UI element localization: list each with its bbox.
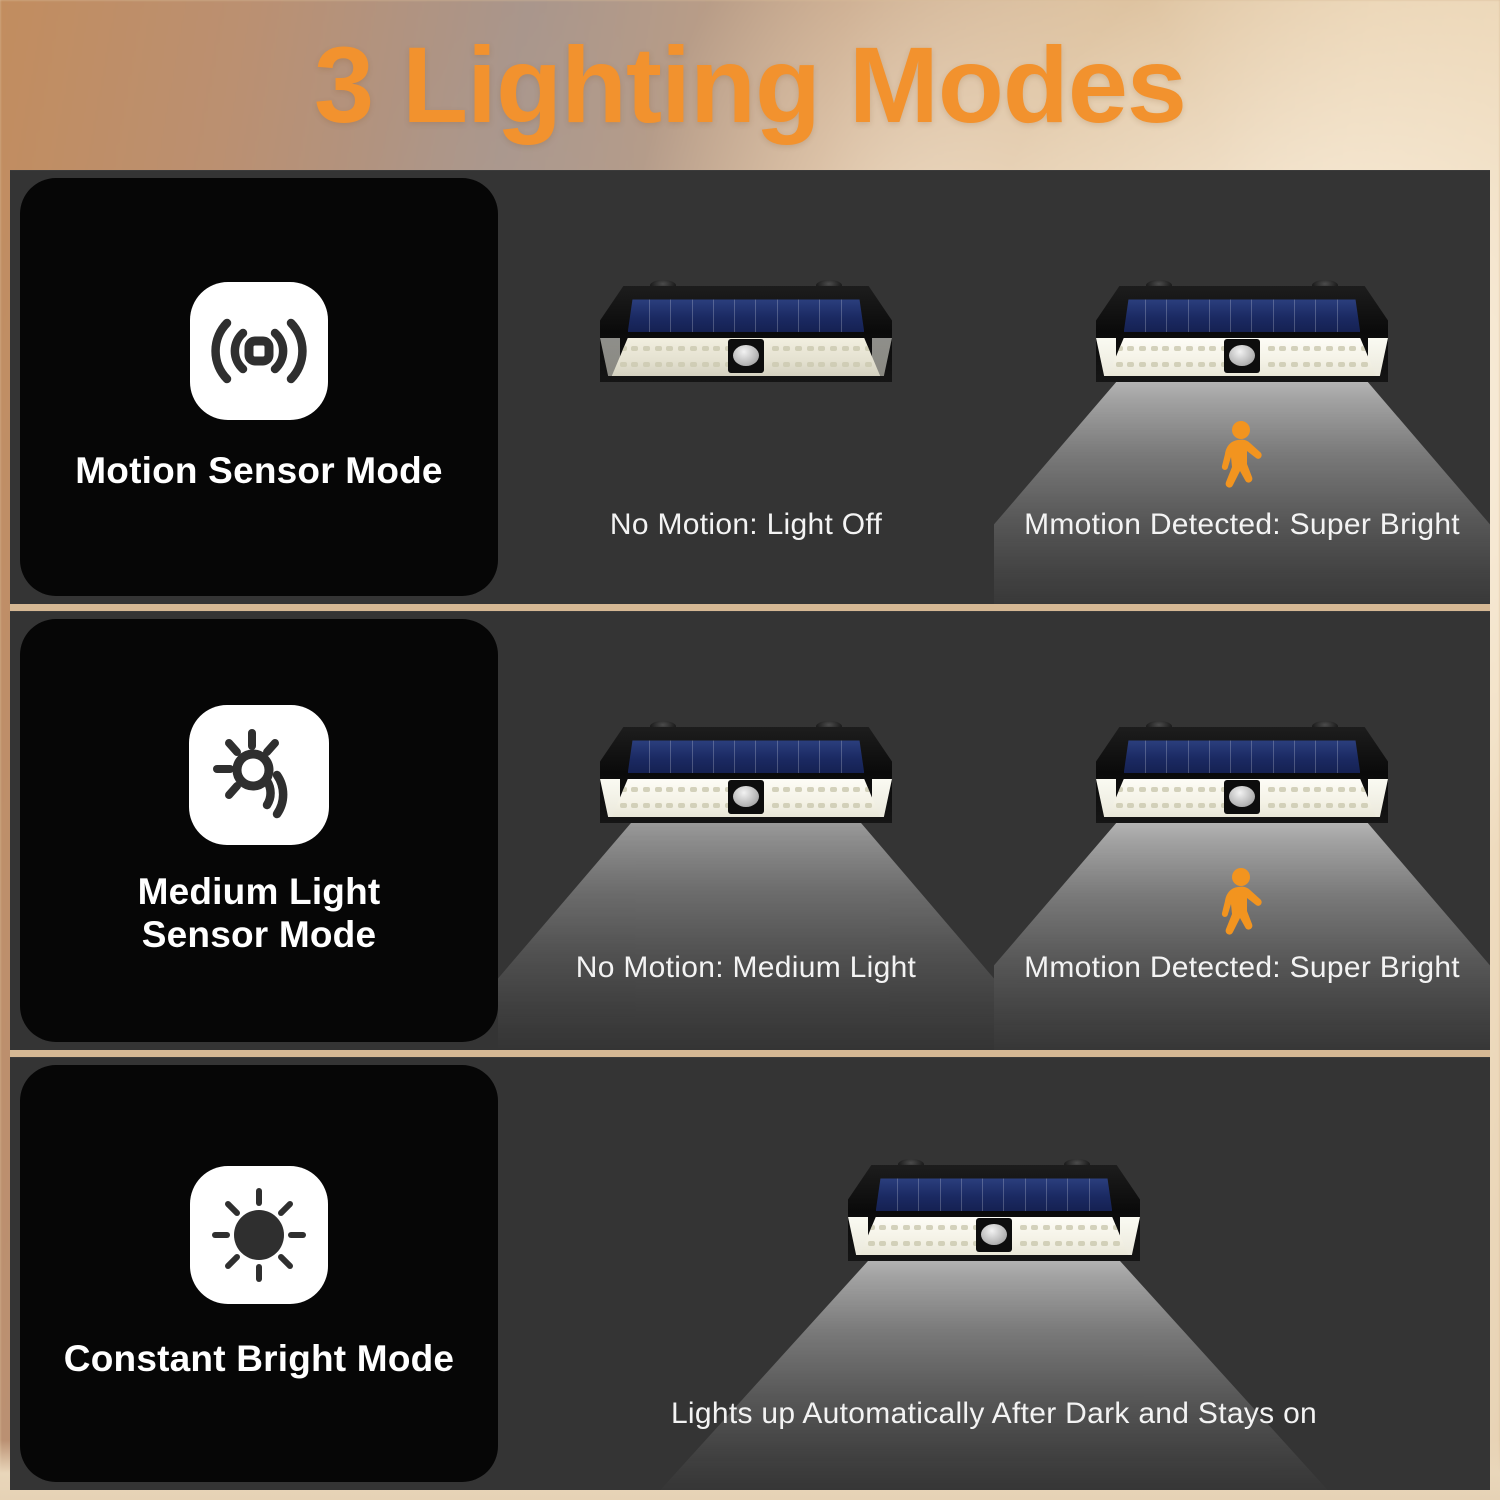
panel-medium-light-sensor-mode: Medium Light Sensor Mode <box>10 611 1490 1050</box>
scene-caption: No Motion: Light Off <box>498 508 994 542</box>
mode-panels: Motion Sensor Mode <box>10 170 1490 1490</box>
solar-light-fixture-medium <box>600 719 892 823</box>
solar-panel <box>1124 299 1361 332</box>
mode-card-motion-sensor[interactable]: Motion Sensor Mode <box>20 178 498 596</box>
solar-light-fixture-on <box>1096 278 1388 382</box>
header: 3 Lighting Modes <box>0 0 1500 170</box>
solar-panel <box>628 740 865 773</box>
mode-label-motion-sensor: Motion Sensor Mode <box>75 450 442 493</box>
panel-divider-2 <box>10 1050 1490 1057</box>
scene-caption: Lights up Automatically After Dark and S… <box>498 1397 1490 1431</box>
sun-icon <box>190 1166 328 1304</box>
panel-motion-sensor-mode: Motion Sensor Mode <box>10 170 1490 604</box>
pir-sensor <box>728 780 764 814</box>
scenes-constant-bright: Lights up Automatically After Dark and S… <box>498 1057 1490 1490</box>
infographic-root: 3 Lighting Modes Motion <box>0 0 1500 1500</box>
solar-light-fixture-on <box>848 1157 1140 1261</box>
solar-light-fixture-off <box>600 278 892 382</box>
scene-caption: Mmotion Detected: Super Bright <box>994 508 1490 542</box>
pir-sensor <box>976 1218 1012 1252</box>
solar-panel <box>876 1178 1113 1211</box>
scene-motion-detected-bright: Mmotion Detected: Super Bright <box>994 170 1490 604</box>
solar-panel <box>1124 740 1361 773</box>
solar-light-fixture-on <box>1096 719 1388 823</box>
scene-no-motion-light-off: No Motion: Light Off <box>498 170 994 604</box>
mode-card-medium-light[interactable]: Medium Light Sensor Mode <box>20 619 498 1042</box>
page-title: 3 Lighting Modes <box>314 31 1186 139</box>
scenes-medium-light: No Motion: Medium Light <box>498 611 1490 1050</box>
mode-label-constant-bright: Constant Bright Mode <box>64 1338 454 1381</box>
solar-panel <box>628 299 865 332</box>
pir-sensor <box>1224 780 1260 814</box>
mode-card-constant-bright[interactable]: Constant Bright Mode <box>20 1065 498 1482</box>
scenes-motion-sensor: No Motion: Light Off <box>498 170 1490 604</box>
motion-radar-icon <box>190 282 328 420</box>
scene-caption: Mmotion Detected: Super Bright <box>994 951 1490 985</box>
pir-sensor <box>728 339 764 373</box>
scene-always-on: Lights up Automatically After Dark and S… <box>498 1057 1490 1490</box>
panel-divider-1 <box>10 604 1490 611</box>
panel-constant-bright-mode: Constant Bright Mode <box>10 1057 1490 1490</box>
mode-label-medium-light: Medium Light Sensor Mode <box>138 871 381 957</box>
sun-radar-icon <box>189 705 329 845</box>
walking-person-icon <box>1212 420 1272 498</box>
scene-motion-detected-bright-2: Mmotion Detected: Super Bright <box>994 611 1490 1050</box>
scene-no-motion-medium-light: No Motion: Medium Light <box>498 611 994 1050</box>
scene-caption: No Motion: Medium Light <box>498 951 994 985</box>
walking-person-icon <box>1212 867 1272 945</box>
pir-sensor <box>1224 339 1260 373</box>
